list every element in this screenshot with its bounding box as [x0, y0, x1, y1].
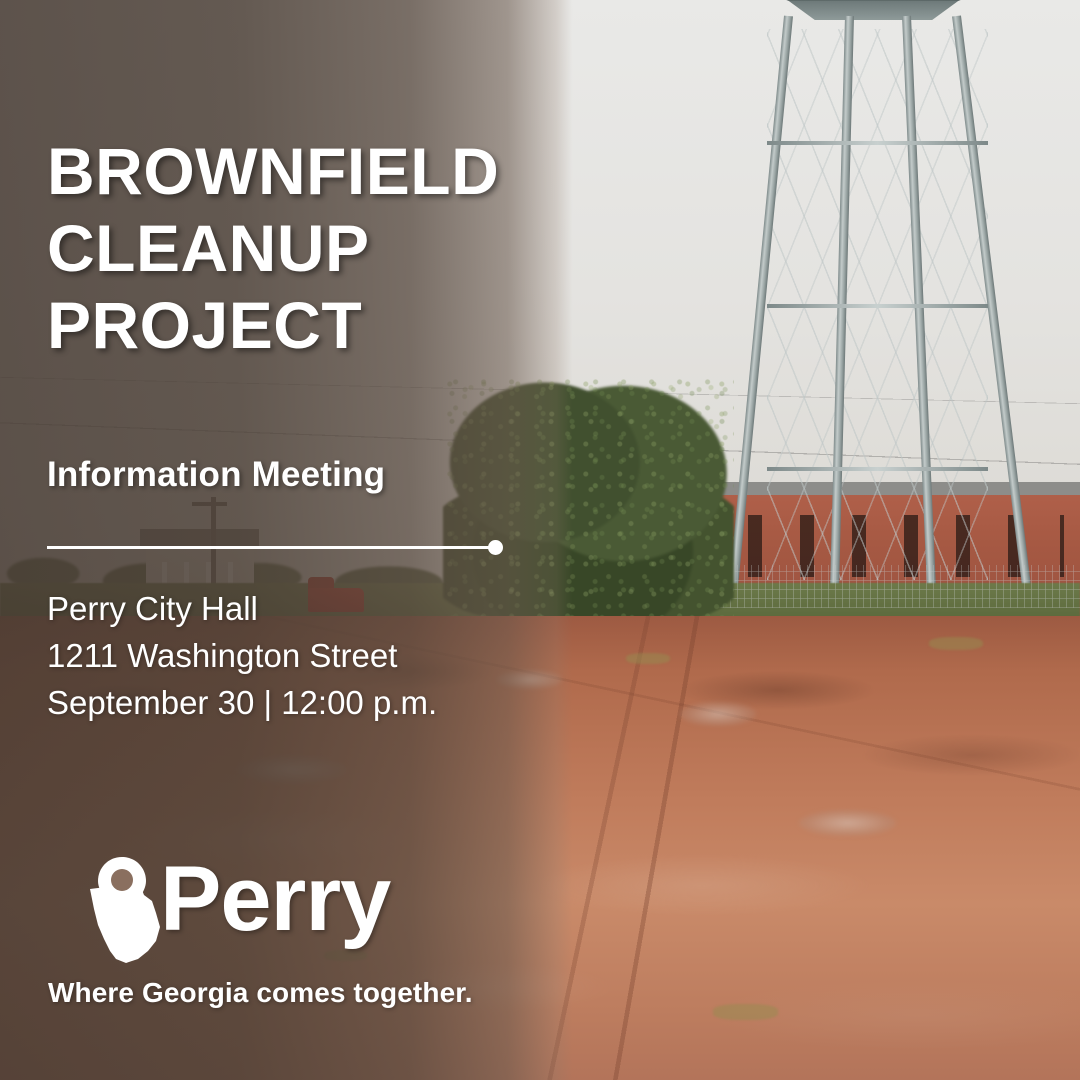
- event-address: 1211 Washington Street: [47, 632, 567, 679]
- event-venue: Perry City Hall: [47, 585, 567, 632]
- logo-tagline: Where Georgia comes together.: [48, 977, 473, 1009]
- city-of-perry-logo: Perry Where Georgia comes together.: [40, 855, 560, 1035]
- event-datetime: September 30 | 12:00 p.m.: [47, 679, 567, 726]
- poster-title: BROWNFIELD CLEANUP PROJECT: [47, 133, 567, 365]
- logo-wordmark: Perry: [160, 847, 390, 952]
- logo-row: Perry: [40, 855, 560, 973]
- poster-subtitle: Information Meeting: [47, 455, 385, 495]
- map-pin-georgia-icon: [82, 855, 172, 967]
- divider-dot-icon: [488, 540, 503, 555]
- poster-canvas: BROWNFIELD CLEANUP PROJECT Information M…: [0, 0, 1080, 1080]
- event-details: Perry City Hall 1211 Washington Street S…: [47, 585, 567, 727]
- divider-line: [47, 546, 499, 549]
